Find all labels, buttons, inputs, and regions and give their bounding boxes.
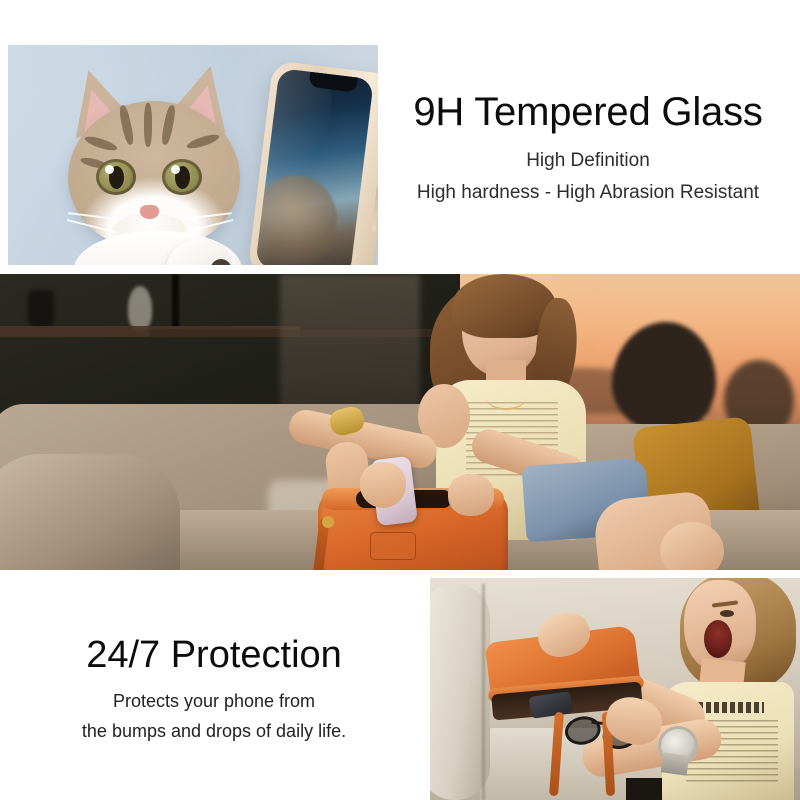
cat-nose (140, 205, 159, 219)
tempered-glass-text-block: 9H Tempered Glass High Definition High h… (386, 88, 790, 206)
sofa-armrest (430, 584, 490, 800)
woman-open-mouth (704, 620, 732, 658)
cat-phone-image (8, 45, 378, 265)
sofa-seam (482, 584, 485, 800)
protection-line-1: Protects your phone from (14, 688, 414, 714)
protection-text-block: 24/7 Protection Protects your phone from… (14, 632, 414, 744)
shelf-jar-decor (28, 290, 54, 328)
tank-top-brand-print (698, 702, 764, 713)
woman-eye (720, 610, 734, 617)
cat-eye-right (162, 159, 202, 195)
sunglasses-lens (562, 713, 603, 748)
shelf-post (172, 274, 179, 332)
screen-reflection (255, 170, 342, 265)
sofa-armrest (0, 454, 180, 570)
woman-left-hand (360, 462, 406, 508)
handbag-leather-tag (370, 532, 416, 560)
protection-line-2: the bumps and drops of daily life. (14, 718, 414, 744)
cat-eye-left (96, 159, 136, 195)
woman-necklace (486, 386, 526, 410)
woman-dropping-bag-image (430, 578, 800, 800)
woman-right-hand (448, 474, 494, 516)
handbag-clasp (322, 516, 334, 528)
tree-silhouette (612, 322, 716, 434)
kitten-illustration (60, 63, 250, 265)
glass-subtitle-hardness: High hardness - High Abrasion Resistant (386, 180, 790, 206)
glass-headline: 9H Tempered Glass (386, 88, 790, 136)
cat-stripe (144, 103, 152, 147)
shelf-vase-decor (128, 286, 152, 330)
wristwatch-band (661, 752, 690, 775)
woman-sofa-image (0, 274, 800, 570)
protection-headline: 24/7 Protection (14, 632, 414, 678)
cat-eye-glint (171, 165, 180, 174)
cat-eye-glint (105, 165, 114, 174)
glass-subtitle-definition: High Definition (386, 148, 790, 174)
